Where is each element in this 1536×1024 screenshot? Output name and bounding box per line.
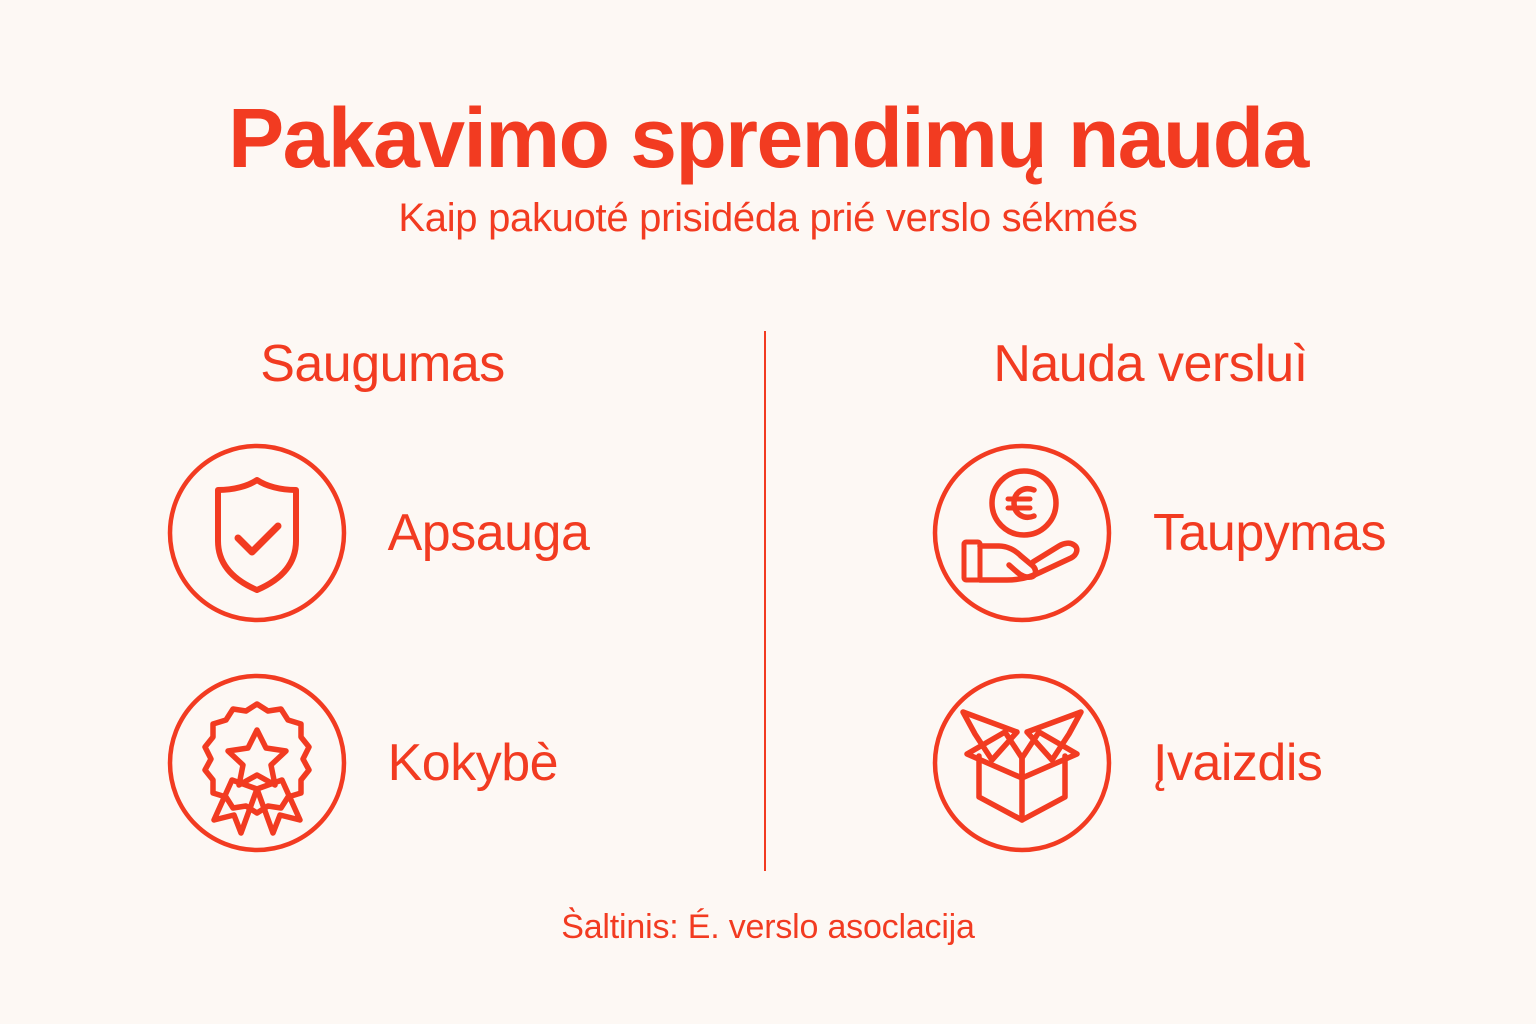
list-item-label: Įvaizdis <box>1153 737 1322 789</box>
header: Pakavimo sprendimų nauda Kaip pakuoté pr… <box>0 96 1536 240</box>
list-item-label: Apsauga <box>388 507 590 559</box>
infographic-poster: Pakavimo sprendimų nauda Kaip pakuoté pr… <box>0 0 1536 1024</box>
columns-container: Saugumas Apsauga <box>0 320 1536 880</box>
list-item[interactable]: Kokybè <box>162 658 590 868</box>
list-item[interactable]: Apsauga <box>162 428 590 638</box>
column-saugumas: Saugumas Apsauga <box>0 320 765 880</box>
list-item[interactable]: Įvaizdis <box>927 658 1386 868</box>
column-nauda-versluì: Nauda versluì <box>765 320 1536 880</box>
shield-check-icon <box>162 438 352 628</box>
award-rosette-icon <box>162 668 352 858</box>
page-title: Pakavimo sprendimų nauda <box>0 96 1536 182</box>
source-attribution: S̀altinis: É. verslo asoclacija <box>0 908 1536 947</box>
list-item-label: Kokybè <box>388 737 558 789</box>
column-divider <box>764 331 766 871</box>
hand-holding-euro-coin-icon <box>927 438 1117 628</box>
open-box-icon <box>927 668 1117 858</box>
column-title-saugumas: Saugumas <box>260 338 505 390</box>
page-subtitle: Kaip pakuoté prisidéda prié verslo sékmé… <box>0 196 1536 240</box>
items-list-saugumas: Apsauga <box>162 428 590 868</box>
footer: S̀altinis: É. verslo asoclacija <box>0 908 1536 947</box>
column-title-nauda-versluì: Nauda versluì <box>993 338 1307 390</box>
list-item[interactable]: Taupymas <box>927 428 1386 638</box>
items-list-nauda-versluì: Taupymas <box>927 428 1386 868</box>
list-item-label: Taupymas <box>1153 507 1386 559</box>
